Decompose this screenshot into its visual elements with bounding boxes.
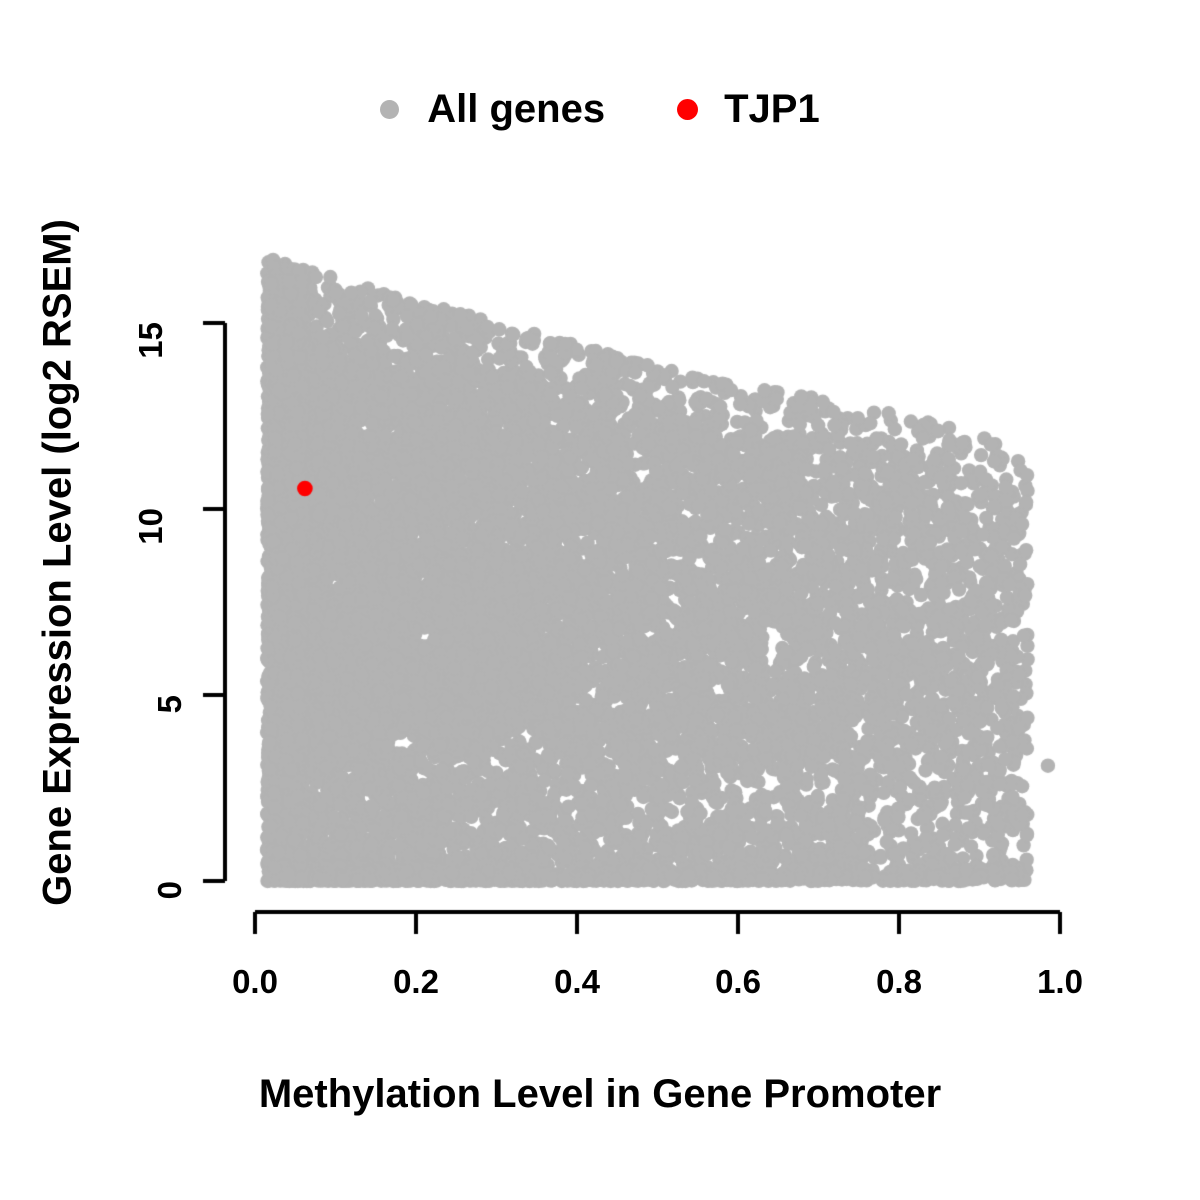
legend-label-all-genes: All genes <box>427 89 605 129</box>
legend-entry-tjp1: TJP1 <box>677 89 820 129</box>
x-tick-label-0: 0.0 <box>232 963 278 1001</box>
gray-dot-marker-icon <box>380 100 399 119</box>
scatter-figure: All genes TJP1 Gene Expression Level (lo… <box>0 0 1200 1200</box>
x-tick-label-1: 0.2 <box>393 963 439 1001</box>
legend-entry-all-genes: All genes <box>380 89 605 129</box>
y-tick-label-10: 10 <box>132 508 170 545</box>
x-tick-label-4: 0.8 <box>876 963 922 1001</box>
legend-label-tjp1: TJP1 <box>724 89 820 129</box>
x-tick-label-5: 1.0 <box>1037 963 1083 1001</box>
y-tick-label-5: 5 <box>151 695 189 713</box>
x-tick-label-3: 0.6 <box>715 963 761 1001</box>
x-tick-label-2: 0.4 <box>554 963 600 1001</box>
y-tick-label-0: 0 <box>151 881 189 899</box>
x-axis-label: Methylation Level in Gene Promoter <box>0 1072 1200 1117</box>
red-dot-marker-icon <box>677 99 698 120</box>
chart-legend: All genes TJP1 <box>0 78 1200 140</box>
y-axis-label: Gene Expression Level (log2 RSEM) <box>36 153 81 973</box>
y-tick-label-15: 15 <box>132 322 170 359</box>
scatter-plot-canvas <box>0 0 1200 1200</box>
